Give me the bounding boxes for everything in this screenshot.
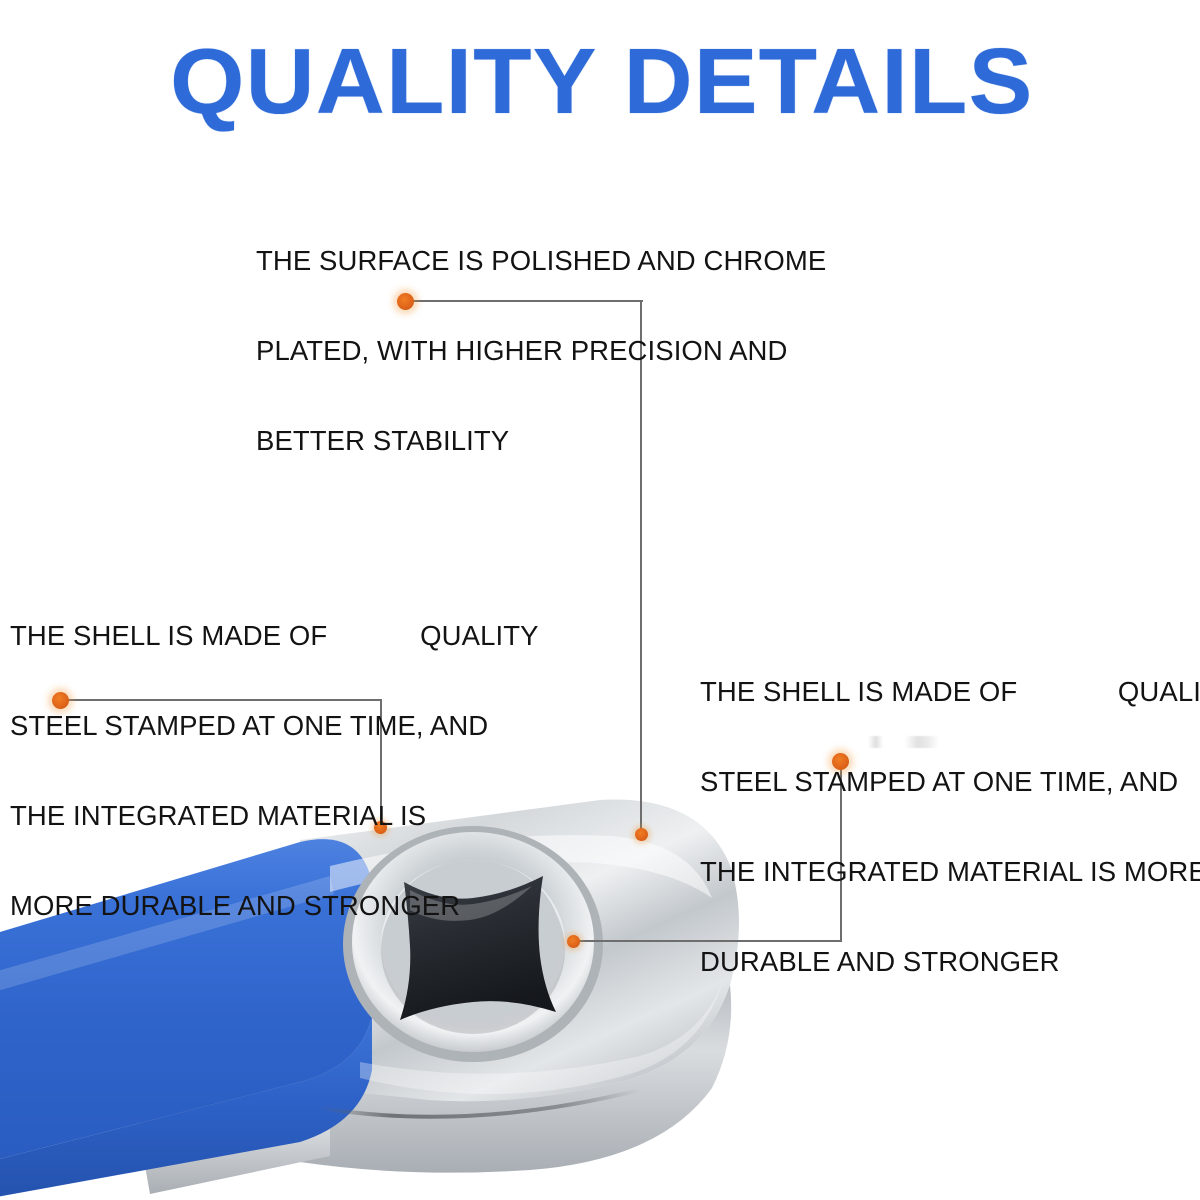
callout-left-line-2: STEEL STAMPED AT ONE TIME, AND — [10, 711, 510, 741]
callout-right-line-3: THE INTEGRATED MATERIAL IS MORE — [700, 857, 1180, 887]
callout-right-line-2: STEEL STAMPED AT ONE TIME, AND — [700, 767, 1180, 797]
callout-top-line-1: THE SURFACE IS POLISHED AND CHROME — [256, 246, 796, 276]
callout-right-line-1: THE SHELL IS MADE OF QUALITY — [700, 677, 1180, 707]
callout-left-line-1: THE SHELL IS MADE OF QUALITY — [10, 621, 510, 651]
callout-top-line-3: BETTER STABILITY — [256, 426, 796, 456]
marker-head-top[interactable] — [635, 828, 648, 841]
callout-surface-finish: THE SURFACE IS POLISHED AND CHROME PLATE… — [256, 186, 796, 516]
callout-left-line-3: THE INTEGRATED MATERIAL IS — [10, 801, 510, 831]
quality-details-infographic: QUALITY DETAILS THE SURFACE IS POLISHED … — [0, 0, 1200, 1200]
marker-drive-square[interactable] — [567, 935, 580, 948]
callout-shell-material-right: THE SHELL IS MADE OF QUALITY STEEL STAMP… — [700, 617, 1180, 1037]
callout-left-line-4: MORE DURABLE AND STRONGER — [10, 891, 510, 921]
page-title: QUALITY DETAILS — [170, 34, 1056, 129]
callout-right-line-4: DURABLE AND STRONGER — [700, 947, 1180, 977]
callout-top-line-2: PLATED, WITH HIGHER PRECISION AND — [256, 336, 796, 366]
callout-shell-material-left: THE SHELL IS MADE OF QUALITY STEEL STAMP… — [10, 561, 510, 981]
